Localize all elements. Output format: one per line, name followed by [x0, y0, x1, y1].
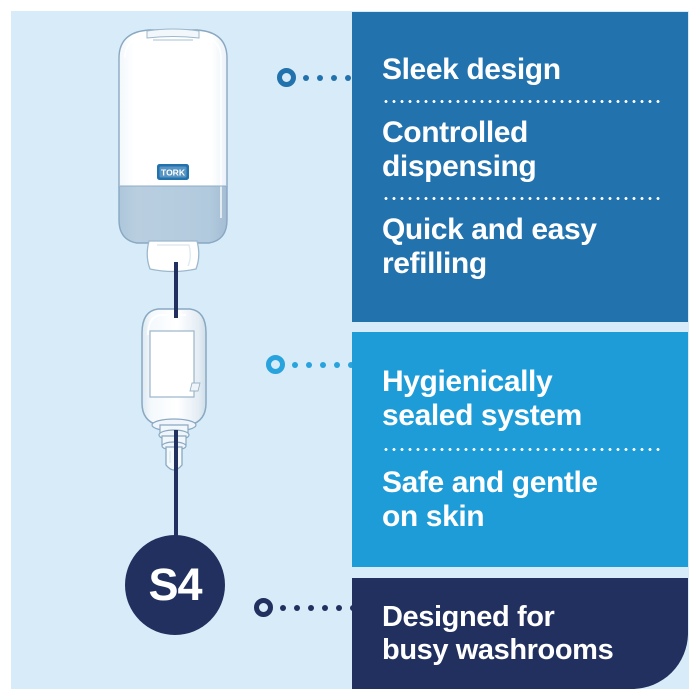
trail-dot	[331, 75, 337, 81]
trail-dot	[308, 605, 314, 611]
feature-item: Hygienically sealed system	[382, 365, 662, 433]
feature-divider	[382, 100, 662, 103]
feature-item: Designed for busy washrooms	[382, 601, 662, 667]
trail-dot	[294, 605, 300, 611]
trail-dot	[322, 605, 328, 611]
circle-marker-icon	[277, 68, 296, 87]
trail-dot	[303, 75, 309, 81]
feature-item: Controlled dispensing	[382, 116, 662, 184]
trail-dot	[336, 605, 342, 611]
trail-dot	[317, 75, 323, 81]
feature-panel-tertiary: Designed for busy washrooms	[352, 578, 688, 689]
feature-item: Safe and gentle on skin	[382, 466, 662, 534]
infographic-page: TORK	[0, 0, 700, 700]
feature-item: Quick and easy refilling	[382, 213, 662, 281]
feature-panel-primary: Sleek design Controlled dispensing Quick…	[352, 12, 688, 322]
soap-dispenser-illustration: TORK	[113, 24, 233, 284]
feature-item: Sleek design	[382, 53, 662, 87]
trail-dot	[280, 605, 286, 611]
connector-panel-1	[277, 68, 359, 87]
connector-panel-2	[266, 355, 362, 374]
feature-panel-secondary: Hygienically sealed system Safe and gent…	[352, 332, 688, 567]
connector-panel-3	[254, 598, 364, 617]
connector-line-top	[174, 262, 178, 318]
trail-dot	[334, 362, 340, 368]
tork-logo-icon: TORK	[157, 164, 189, 180]
trail-dot	[320, 362, 326, 368]
dot-trail	[303, 75, 359, 81]
circle-marker-icon	[254, 598, 273, 617]
product-system-badge: S4	[125, 535, 225, 635]
feature-divider	[382, 197, 662, 200]
trail-dot	[345, 75, 351, 81]
circle-marker-icon	[266, 355, 285, 374]
trail-dot	[292, 362, 298, 368]
svg-text:TORK: TORK	[161, 168, 186, 178]
feature-divider	[382, 448, 662, 451]
trail-dot	[306, 362, 312, 368]
badge-label: S4	[148, 559, 201, 611]
